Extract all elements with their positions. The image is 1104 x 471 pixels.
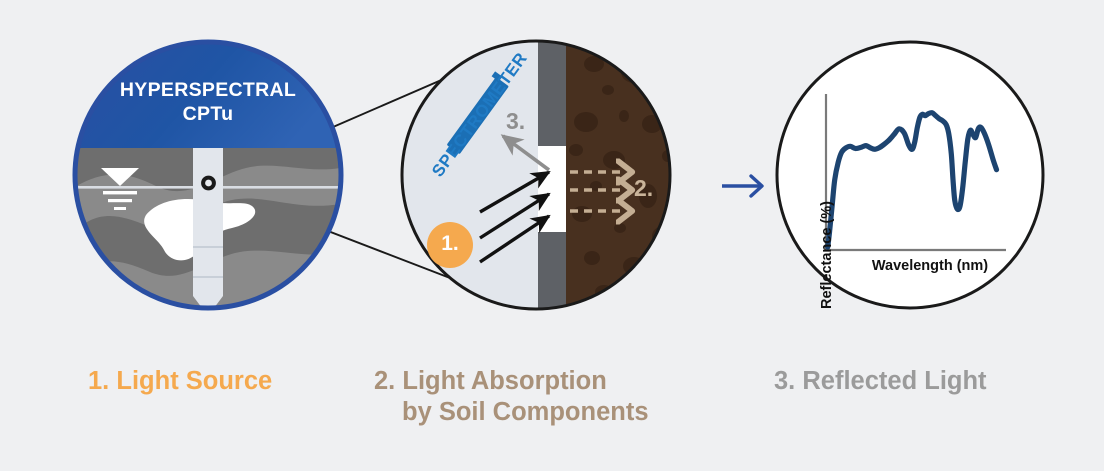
right-arrow — [722, 176, 762, 196]
caption-2-number: 2. — [374, 367, 395, 395]
badge-1-label: 1. — [428, 232, 472, 256]
caption-3-text: Reflected Light — [802, 367, 986, 395]
chart-xlabel: Wavelength (nm) — [840, 258, 1020, 274]
panel1-title-line2: CPTu — [108, 102, 308, 126]
cptu-probe — [193, 148, 223, 316]
caption-2-text-line1: Light Absorption — [402, 367, 606, 395]
caption-2-text-line2: by Soil Components — [402, 398, 649, 426]
caption-3: 3. Reflected Light — [774, 366, 987, 397]
label-3: 3. — [506, 108, 525, 135]
infographic-stage: HYPERSPECTRAL CPTu SPECTROMETER 1. 2. 3.… — [0, 0, 1104, 471]
caption-2: 2. Light Absorption by Soil Components — [374, 366, 649, 428]
sensor-window-dot — [201, 176, 216, 191]
caption-3-number: 3. — [774, 367, 795, 395]
panel1-title-line1: HYPERSPECTRAL — [108, 78, 308, 102]
caption-1-text: Light Source — [116, 367, 272, 395]
panel1-title: HYPERSPECTRAL CPTu — [108, 78, 308, 126]
caption-1-number: 1. — [88, 367, 109, 395]
label-2: 2. — [634, 175, 653, 202]
caption-1: 1. Light Source — [88, 366, 272, 397]
